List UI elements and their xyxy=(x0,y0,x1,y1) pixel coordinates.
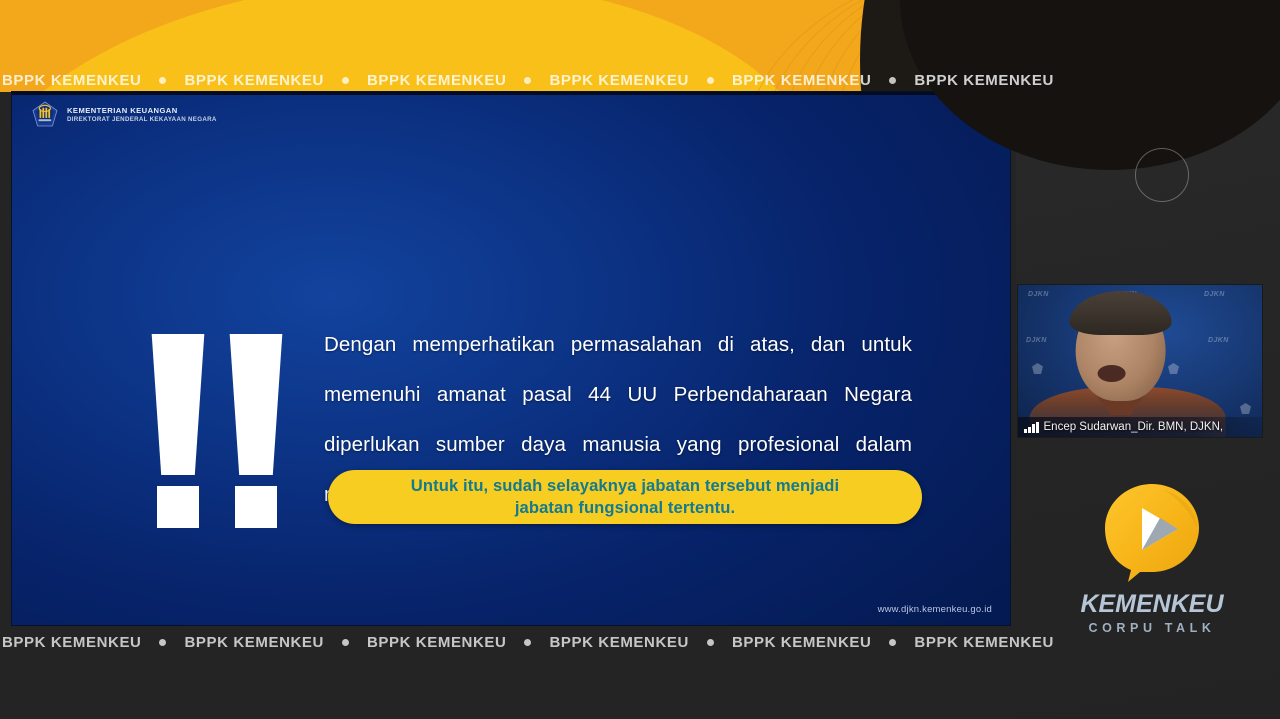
participant-name: Encep Sudarwan_Dir. BMN, DJKN, xyxy=(1044,421,1224,433)
paragraph-line: memenuhi amanat pasal 44 UU Perbendahara… xyxy=(324,382,912,432)
watermark-label: BPPK KEMENKEU xyxy=(182,634,325,651)
participant-video-tile[interactable]: DJKN DJKN DJKN DJKN DJKN DJKN DJKN E xyxy=(1018,285,1262,437)
dot-separator-icon xyxy=(889,639,896,646)
dot-separator-icon xyxy=(342,639,349,646)
dot-separator-icon xyxy=(342,77,349,84)
participant-video-feed xyxy=(1036,289,1216,437)
play-speech-bubble-icon xyxy=(1098,478,1206,586)
slide-top-edge xyxy=(12,92,1010,95)
corpu-talk-title: KEMENKEU xyxy=(1062,592,1242,617)
signal-bars-icon xyxy=(1024,422,1039,433)
watermark-label: BPPK KEMENKEU xyxy=(547,634,690,651)
paragraph-line: Dengan memperhatikan permasalahan di ata… xyxy=(324,332,912,382)
watermark-label: BPPK KEMENKEU xyxy=(547,72,690,89)
dot-separator-icon xyxy=(159,77,166,84)
slide-footer-url: www.djkn.kemenkeu.go.id xyxy=(878,604,992,615)
org-logo-line1: KEMENTERIAN KEUANGAN xyxy=(67,107,217,116)
dot-separator-icon xyxy=(707,639,714,646)
participant-name-bar: Encep Sudarwan_Dir. BMN, DJKN, xyxy=(1018,417,1262,437)
dot-separator-icon xyxy=(159,639,166,646)
watermark-label: BPPK KEMENKEU xyxy=(0,72,143,89)
kemenkeu-emblem-icon xyxy=(30,100,60,130)
watermark-strip-top: BPPK KEMENKEU BPPK KEMENKEU BPPK KEMENKE… xyxy=(0,68,1280,92)
djkn-crest-icon xyxy=(1240,403,1251,414)
callout-line2: jabatan fungsional tertentu. xyxy=(515,498,735,517)
watermark-label: BPPK KEMENKEU xyxy=(730,72,873,89)
watermark-label: BPPK KEMENKEU xyxy=(912,634,1055,651)
dot-separator-icon xyxy=(524,639,531,646)
double-exclamation-icon xyxy=(140,334,298,529)
callout-line1: Untuk itu, sudah selayaknya jabatan ters… xyxy=(411,476,839,495)
dot-separator-icon xyxy=(524,77,531,84)
watermark-label: BPPK KEMENKEU xyxy=(730,634,873,651)
meeting-screen: BPPK KEMENKEU BPPK KEMENKEU BPPK KEMENKE… xyxy=(0,0,1280,719)
org-logo-line2: DIREKTORAT JENDERAL KEKAYAAN NEGARA xyxy=(67,116,217,123)
dot-separator-icon xyxy=(889,77,896,84)
watermark-label: BPPK KEMENKEU xyxy=(0,634,143,651)
shared-slide[interactable]: KEMENTERIAN KEUANGAN DIREKTORAT JENDERAL… xyxy=(12,92,1010,625)
avatar-circle-icon xyxy=(1135,148,1189,202)
corpu-talk-branding: KEMENKEU CORPU TALK xyxy=(1062,478,1242,635)
corpu-talk-subtitle: CORPU TALK xyxy=(1062,622,1242,635)
watermark-label: BPPK KEMENKEU xyxy=(912,72,1055,89)
dot-separator-icon xyxy=(707,77,714,84)
slide-org-logo: KEMENTERIAN KEUANGAN DIREKTORAT JENDERAL… xyxy=(30,100,217,130)
watermark-label: BPPK KEMENKEU xyxy=(365,72,508,89)
watermark-label: BPPK KEMENKEU xyxy=(365,634,508,651)
watermark-label: BPPK KEMENKEU xyxy=(182,72,325,89)
highlight-callout: Untuk itu, sudah selayaknya jabatan ters… xyxy=(328,470,922,524)
